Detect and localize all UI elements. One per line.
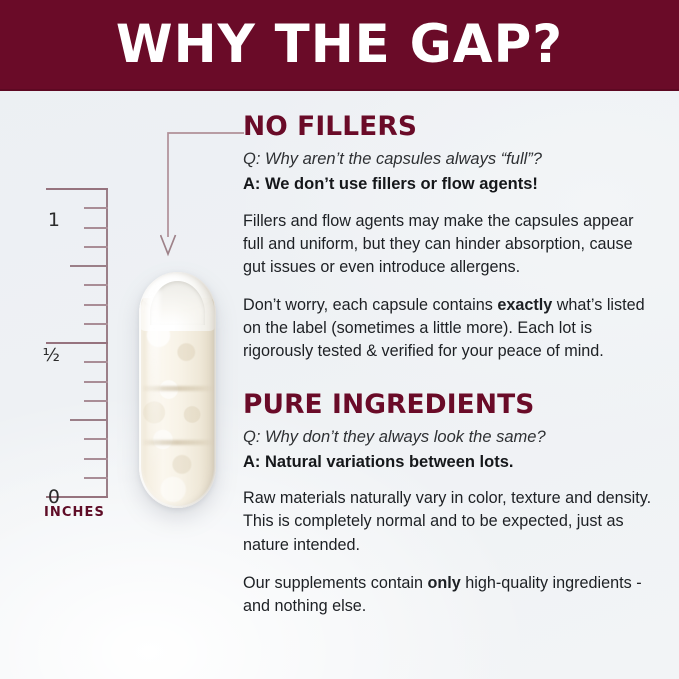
ruler-tick (0, 323, 108, 325)
section-pure-ingredients: PURE INGREDIENTS Q: Why don’t they alway… (243, 390, 655, 618)
ruler-tick-mark (70, 265, 108, 267)
ruler-tick (0, 458, 108, 460)
content-column: NO FILLERS Q: Why aren’t the capsules al… (243, 112, 655, 633)
ruler-tick-mark (84, 361, 108, 363)
ruler-tick (0, 361, 108, 363)
ruler-label-half: ½ (20, 345, 60, 366)
ruler-tick-mark (46, 342, 108, 344)
ruler-tick-mark (84, 304, 108, 306)
question-pure-ingredients: Q: Why don’t they always look the same? (243, 427, 655, 449)
page-title: WHY THE GAP? (116, 18, 563, 71)
ruler-tick-mark (84, 438, 108, 440)
section-heading-no-fillers: NO FILLERS (243, 112, 647, 141)
capsule-edge-shading (139, 272, 216, 508)
callout-arrow (160, 125, 245, 260)
ruler-tick-mark (84, 400, 108, 402)
ruler-tick (0, 246, 108, 248)
ruler-tick (0, 381, 108, 383)
ruler-label-0: 0 (20, 486, 60, 508)
paragraph-pure-ingredients-2: Our supplements contain only high-qualit… (243, 572, 655, 618)
question-no-fillers: Q: Why aren’t the capsules always “full”… (243, 149, 655, 171)
ruler-tick-mark (84, 323, 108, 325)
ruler-tick-mark (84, 246, 108, 248)
ruler-tick (0, 207, 108, 209)
ruler-tick-mark (84, 458, 108, 460)
ruler-spine (106, 189, 108, 498)
infographic-page: WHY THE GAP? 1 ½ 0 INCHES (0, 0, 679, 679)
ruler-unit-label: INCHES (44, 505, 105, 520)
ruler-tick-mark (84, 477, 108, 479)
ruler-tick-mark (84, 227, 108, 229)
ruler-tick-mark (84, 381, 108, 383)
header-banner: WHY THE GAP? (0, 0, 679, 89)
ruler-tick (0, 438, 108, 440)
ruler-tick (0, 188, 108, 190)
ruler-tick (0, 400, 108, 402)
section-no-fillers: NO FILLERS Q: Why aren’t the capsules al… (243, 112, 655, 364)
answer-pure-ingredients: A: Natural variations between lots. (243, 452, 655, 474)
ruler-tick-mark (46, 496, 108, 498)
answer-no-fillers: A: We don’t use fillers or flow agents! (243, 174, 655, 196)
ruler-tick-mark (84, 284, 108, 286)
section-heading-pure-ingredients: PURE INGREDIENTS (243, 390, 647, 419)
ruler-tick (0, 284, 108, 286)
ruler-tick (0, 419, 108, 421)
ruler-tick (0, 227, 108, 229)
ruler-tick (0, 477, 108, 479)
supplement-capsule (139, 272, 216, 508)
ruler-tick-mark (46, 188, 108, 190)
paragraph-pure-ingredients-1: Raw materials naturally vary in color, t… (243, 487, 655, 556)
paragraph-no-fillers-2: Don’t worry, each capsule contains exact… (243, 294, 655, 363)
ruler-label-1: 1 (20, 209, 60, 231)
header-divider (0, 89, 679, 91)
paragraph-no-fillers-1: Fillers and flow agents may make the cap… (243, 210, 655, 279)
ruler-tick-mark (84, 207, 108, 209)
callout-arrow-icon (160, 125, 245, 260)
ruler-tick (0, 496, 108, 498)
ruler-tick-mark (70, 419, 108, 421)
ruler-tick (0, 342, 108, 344)
ruler-tick (0, 265, 108, 267)
ruler-tick (0, 304, 108, 306)
